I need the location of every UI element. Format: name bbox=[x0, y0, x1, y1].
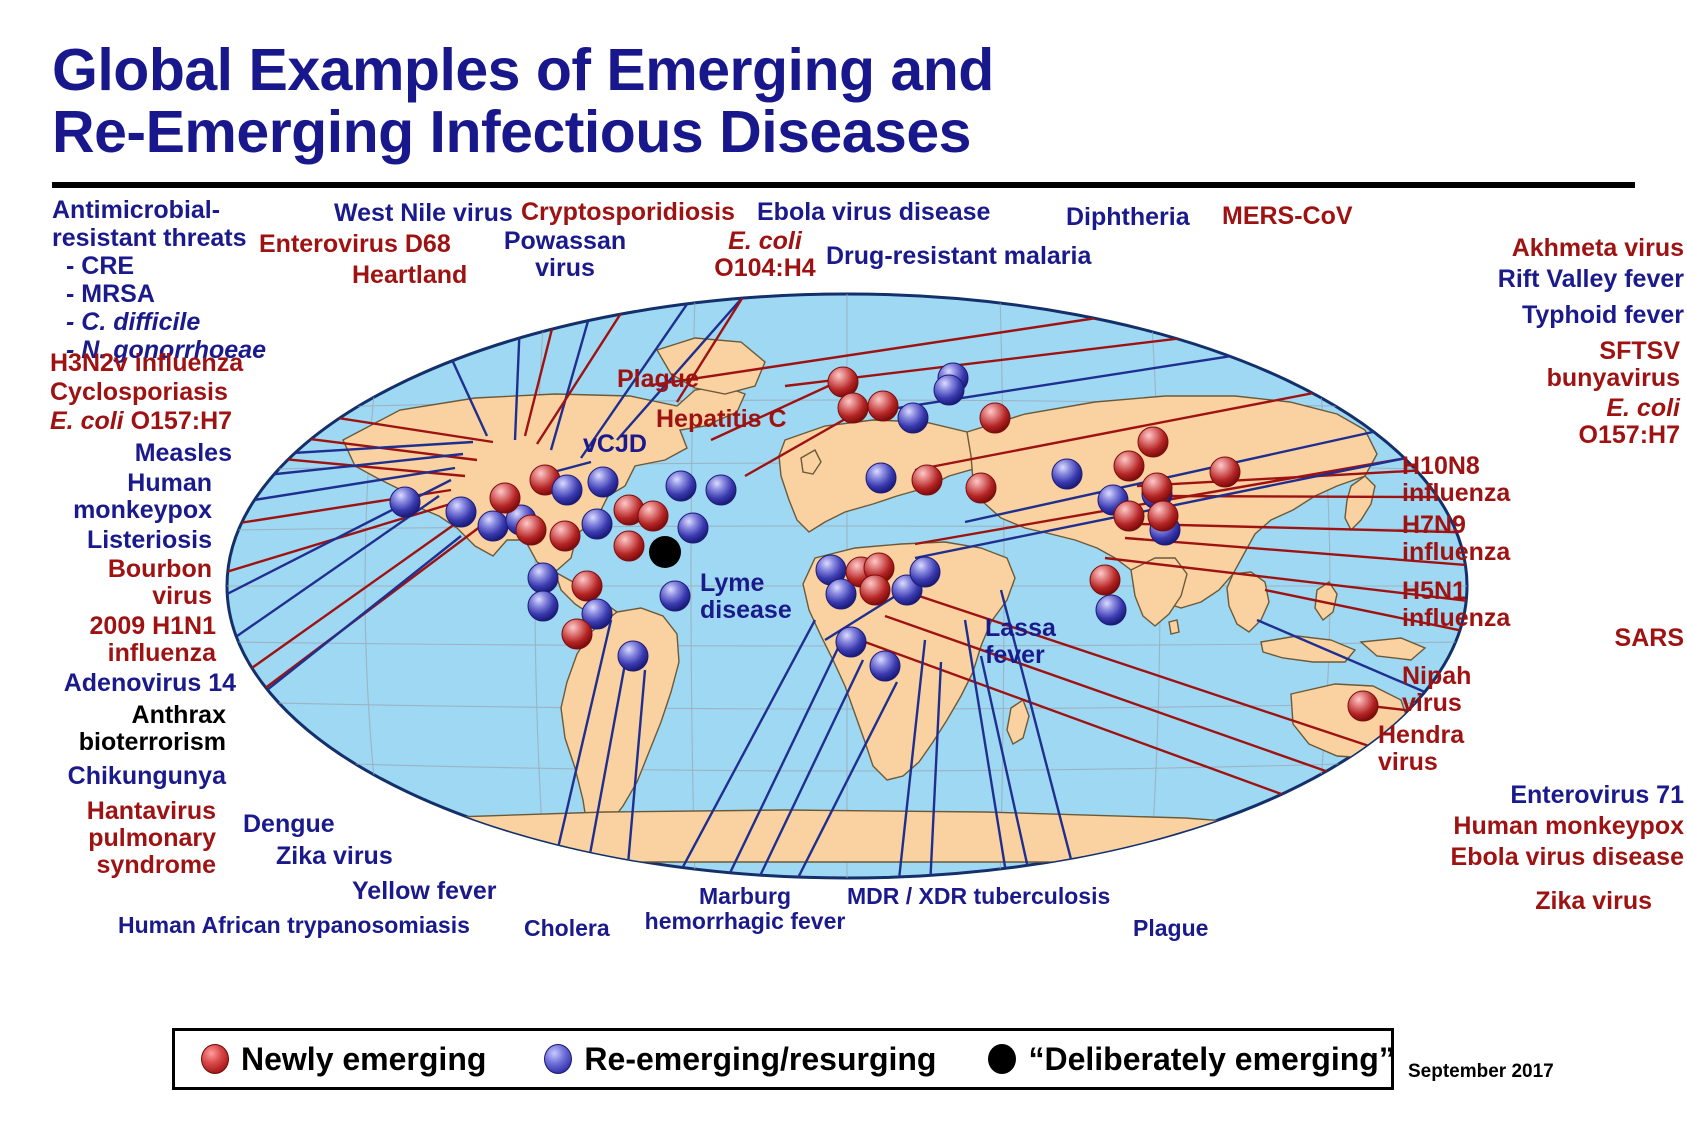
label-h3n2v-influenza: H3N2v influenza bbox=[50, 350, 243, 377]
page-title-line2: Re-Emerging Infectious Diseases bbox=[52, 102, 1452, 164]
marker-newly-emerging bbox=[572, 571, 602, 601]
blue-sphere-icon bbox=[544, 1044, 572, 1074]
label-cryptosporidiosis: Cryptosporidiosis bbox=[521, 199, 735, 226]
marker-re-emerging bbox=[660, 581, 690, 611]
marker-re-emerging bbox=[588, 467, 618, 497]
label-drug-resistant-malaria: Drug-resistant malaria bbox=[826, 243, 1091, 270]
infographic-root: Global Examples of Emerging and Re-Emerg… bbox=[0, 0, 1687, 1125]
marker-newly-emerging bbox=[1114, 451, 1144, 481]
marker-newly-emerging bbox=[1114, 501, 1144, 531]
label-cyclosporiasis: Cyclosporiasis bbox=[50, 379, 228, 406]
page-title: Global Examples of Emerging and Re-Emerg… bbox=[52, 40, 1452, 164]
label-yellow-fever: Yellow fever bbox=[352, 878, 497, 905]
label-chikungunya: Chikungunya bbox=[0, 763, 226, 790]
label-plague: Plague bbox=[1133, 916, 1208, 941]
marker-newly-emerging bbox=[550, 521, 580, 551]
marker-re-emerging bbox=[870, 651, 900, 681]
marker-re-emerging bbox=[706, 475, 736, 505]
marker-newly-emerging bbox=[868, 391, 898, 421]
label-dengue: Dengue bbox=[243, 811, 335, 838]
marker-newly-emerging bbox=[516, 515, 546, 545]
amr-item-c-difficile: - C. difficile bbox=[52, 308, 312, 336]
label-e-coli-o157h7-left: E. coli O157:H7 bbox=[50, 408, 232, 435]
label-typhoid-fever: Typhoid fever bbox=[1130, 302, 1684, 329]
marker-re-emerging bbox=[618, 641, 648, 671]
label-sftsv-bunyavirus: SFTSV bunyavirus bbox=[1130, 338, 1680, 392]
label-human-monkeypox-right: Human monkeypox bbox=[1130, 813, 1684, 840]
marker-newly-emerging bbox=[638, 501, 668, 531]
marker-re-emerging bbox=[528, 591, 558, 621]
marker-re-emerging bbox=[866, 463, 896, 493]
label-ebola-virus-disease-top: Ebola virus disease bbox=[757, 199, 990, 226]
label-hendra-virus: Hendra virus bbox=[1378, 722, 1464, 776]
label-zika-virus-right: Zika virus bbox=[1130, 888, 1652, 915]
marker-re-emerging bbox=[582, 509, 612, 539]
label-e-coli-italic: E. coli bbox=[50, 407, 124, 435]
label-hantavirus-pulmonary-syndrome: Hantavirus pulmonary syndrome bbox=[0, 798, 216, 879]
label-marburg-hemorrhagic-fever: Marburg hemorrhagic fever bbox=[630, 884, 860, 934]
label-vcjd: Hepatitis C bbox=[656, 406, 787, 433]
label-zika-virus-bottom: Zika virus bbox=[276, 843, 393, 870]
label-h10n8-influenza: H10N8 influenza bbox=[1402, 453, 1510, 507]
amr-heading-line1: Antimicrobial- bbox=[52, 196, 312, 224]
label-antimicrobial-resistant-threats: Antimicrobial- resistant threats - CRE -… bbox=[52, 196, 312, 364]
label-ebola-virus-disease-right: Ebola virus disease bbox=[1130, 844, 1684, 871]
marker-re-emerging bbox=[934, 375, 964, 405]
amr-item-mrsa: - MRSA bbox=[52, 280, 312, 308]
label-diphtheria: Diphtheria bbox=[1066, 204, 1190, 231]
label-h7n9-influenza: H7N9 influenza bbox=[1402, 512, 1510, 566]
black-dot-icon bbox=[988, 1044, 1016, 1074]
label-sars: SARS bbox=[1130, 625, 1684, 652]
marker-newly-emerging bbox=[828, 367, 858, 397]
label-human-monkeypox-left: Human monkeypox bbox=[0, 470, 212, 524]
label-akhmeta-virus: Akhmeta virus bbox=[1130, 235, 1684, 262]
legend-label-re-emerging: Re-emerging/resurging bbox=[584, 1041, 936, 1078]
label-nipah-virus: Nipah virus bbox=[1402, 663, 1471, 717]
marker-re-emerging bbox=[552, 475, 582, 505]
label-human-african-trypanosomiasis: Human African trypanosomiasis bbox=[118, 913, 470, 938]
legend: Newly emerging Re-emerging/resurging “De… bbox=[172, 1028, 1394, 1090]
marker-re-emerging bbox=[446, 497, 476, 527]
label-west-nile-virus: West Nile virus bbox=[334, 200, 513, 227]
label-listeriosis: Listeriosis bbox=[0, 527, 212, 554]
label-e-coli-o157h7-right: E. coliO157:H7 bbox=[1130, 395, 1680, 449]
marker-re-emerging bbox=[836, 627, 866, 657]
marker-newly-emerging bbox=[966, 473, 996, 503]
marker-newly-emerging bbox=[490, 483, 520, 513]
publication-date: September 2017 bbox=[1408, 1061, 1554, 1083]
marker-newly-emerging bbox=[1148, 501, 1178, 531]
label-mdr-xdr-tuberculosis: MDR / XDR tuberculosis bbox=[847, 884, 1110, 909]
marker-newly-emerging bbox=[912, 465, 942, 495]
label-hiv: Lassa fever bbox=[985, 615, 1056, 669]
label-anthrax-bioterrorism: Anthrax bioterrorism bbox=[0, 702, 226, 756]
marker-newly-emerging bbox=[562, 619, 592, 649]
marker-re-emerging bbox=[910, 557, 940, 587]
label-e-coli-o104h4-genus: E. coli bbox=[728, 227, 802, 255]
label-heartland: Heartland bbox=[352, 262, 467, 289]
label-adenovirus-14: Adenovirus 14 bbox=[0, 670, 236, 697]
legend-item-newly-emerging: Newly emerging bbox=[201, 1041, 486, 1078]
label-e-coli-right-genus: E. coli bbox=[1606, 394, 1680, 422]
marker-newly-emerging bbox=[1090, 565, 1120, 595]
marker-newly-emerging bbox=[860, 575, 890, 605]
marker-newly-emerging bbox=[1142, 473, 1172, 503]
marker-newly-emerging bbox=[1348, 691, 1378, 721]
marker-re-emerging bbox=[478, 511, 508, 541]
marker-re-emerging bbox=[528, 563, 558, 593]
red-sphere-icon bbox=[201, 1044, 229, 1074]
label-enterovirus-d68: Enterovirus D68 bbox=[259, 231, 451, 258]
marker-re-emerging bbox=[666, 471, 696, 501]
marker-newly-emerging bbox=[614, 531, 644, 561]
label-cholera: Cholera bbox=[524, 916, 610, 941]
marker-group-australia bbox=[1348, 691, 1378, 721]
label-2009-h1n1-influenza: 2009 H1N1 influenza bbox=[0, 613, 216, 667]
label-powassan-virus: Powassan virus bbox=[495, 228, 635, 282]
legend-label-newly-emerging: Newly emerging bbox=[241, 1041, 486, 1078]
label-measles: Measles bbox=[0, 440, 232, 467]
label-bourbon-virus: Bourbon virus bbox=[0, 556, 212, 610]
label-enterovirus-71: Enterovirus 71 bbox=[1130, 782, 1684, 809]
marker-re-emerging bbox=[678, 513, 708, 543]
label-h5n1-influenza: H5N1 influenza bbox=[1402, 578, 1510, 632]
page-title-line1: Global Examples of Emerging and bbox=[52, 40, 1452, 102]
marker-newly-emerging bbox=[838, 393, 868, 423]
label-lyme-disease: vCJD bbox=[583, 431, 647, 458]
marker-newly-emerging bbox=[980, 403, 1010, 433]
label-e-coli-o104h4: E. coliO104:H4 bbox=[700, 228, 830, 282]
legend-item-re-emerging: Re-emerging/resurging bbox=[544, 1041, 936, 1078]
legend-label-deliberately-emerging: “Deliberately emerging” bbox=[1028, 1041, 1394, 1078]
marker-re-emerging bbox=[1096, 595, 1126, 625]
label-mers-cov: MERS-CoV bbox=[1222, 203, 1353, 230]
marker-re-emerging bbox=[898, 403, 928, 433]
marker-deliberately-emerging bbox=[649, 536, 681, 568]
label-lassa-fever: Lyme disease bbox=[700, 570, 792, 624]
label-hepatitis-c: Plague bbox=[617, 366, 699, 393]
title-divider bbox=[52, 182, 1635, 188]
marker-re-emerging bbox=[1052, 459, 1082, 489]
legend-item-deliberately-emerging: “Deliberately emerging” bbox=[988, 1041, 1394, 1078]
marker-newly-emerging bbox=[1210, 457, 1240, 487]
marker-re-emerging bbox=[390, 487, 420, 517]
label-rift-valley-fever: Rift Valley fever bbox=[1130, 266, 1684, 293]
